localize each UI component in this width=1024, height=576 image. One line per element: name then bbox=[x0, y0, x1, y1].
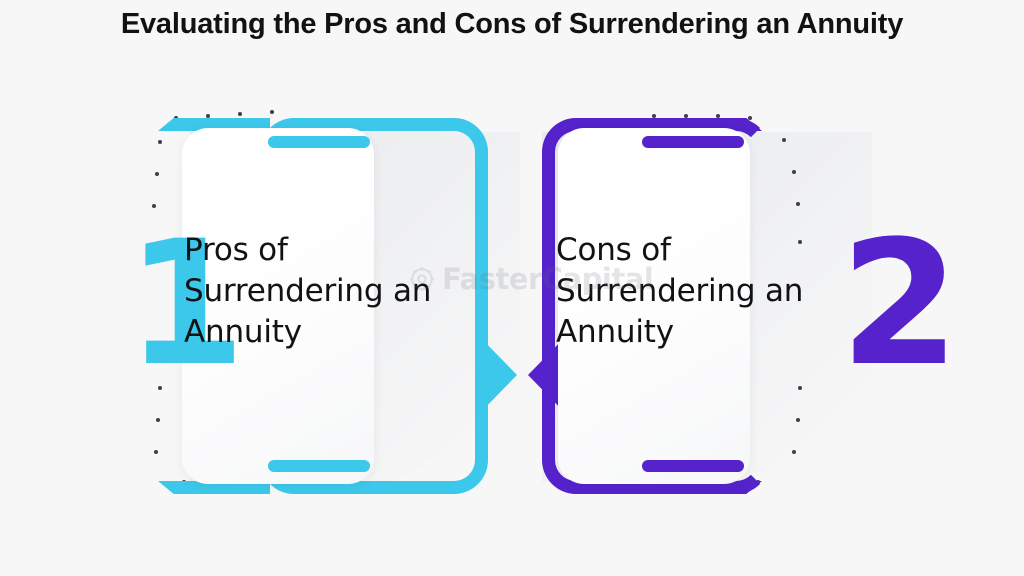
card-pill-top-cyan bbox=[268, 136, 370, 148]
card-pill-top-purple bbox=[642, 136, 744, 148]
card-pill-bottom-purple bbox=[642, 460, 744, 472]
slide-canvas: Evaluating the Pros and Cons of Surrende… bbox=[0, 0, 1024, 576]
panel-label-cons: Cons of Surrendering an Annuity bbox=[556, 230, 846, 354]
panel-label-pros: Pros of Surrendering an Annuity bbox=[184, 230, 474, 354]
card-pill-bottom-cyan bbox=[268, 460, 370, 472]
diagram-stage: 1 2 Pros of Surrendering an Annuity Cons… bbox=[0, 0, 1024, 576]
panel-number-2: 2 bbox=[840, 218, 954, 390]
